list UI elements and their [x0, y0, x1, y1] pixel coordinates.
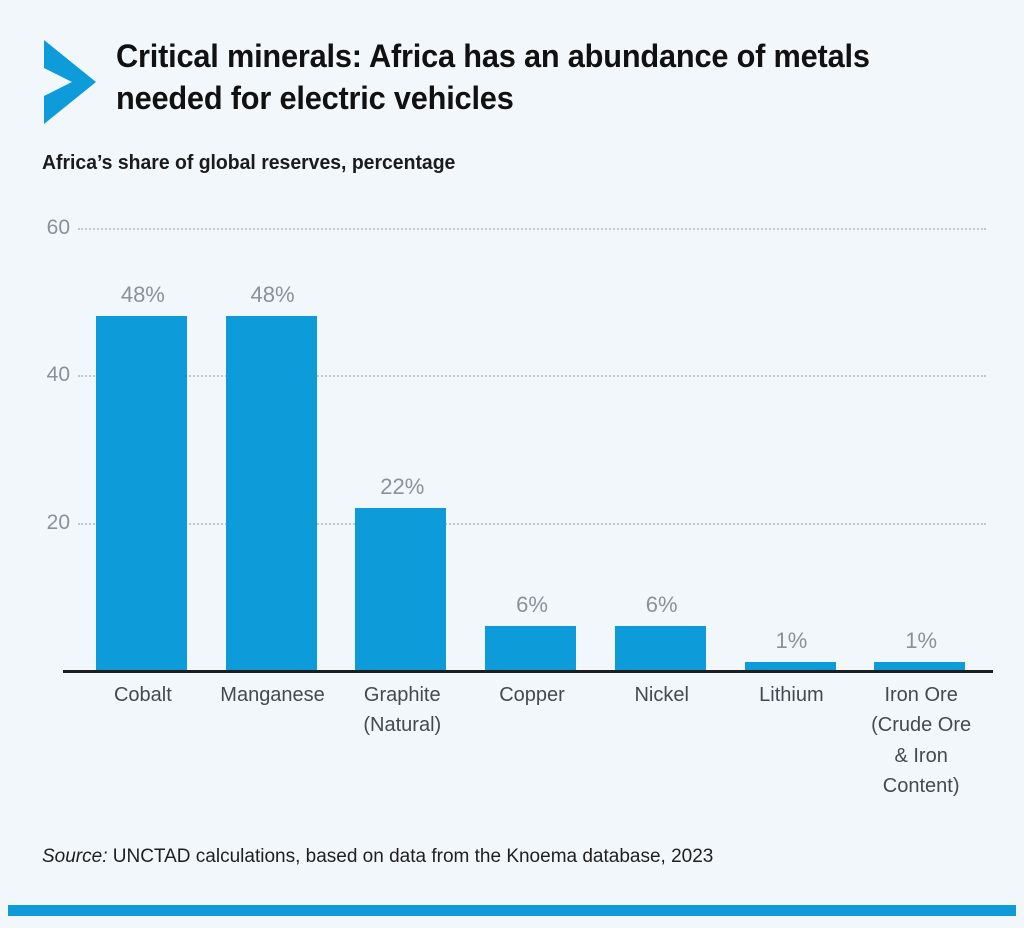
x-axis-category-label: Copper [461, 680, 603, 710]
bar-value-label: 22% [337, 474, 467, 500]
chevron-right-icon [42, 38, 98, 126]
bar-chart: 204060 48%Cobalt48%Manganese22%Graphite(… [0, 200, 1024, 840]
bar[interactable] [96, 316, 187, 670]
x-axis-category-label: Manganese [202, 680, 344, 710]
bar-value-label: 6% [467, 592, 597, 618]
x-axis-category-label: Graphite(Natural) [331, 680, 473, 741]
chart-subtitle: Africa’s share of global reserves, perce… [42, 152, 455, 175]
bar[interactable] [485, 626, 576, 670]
bar-value-label: 6% [597, 592, 727, 618]
bar[interactable] [355, 508, 446, 670]
page-title: Critical minerals: Africa has an abundan… [116, 36, 913, 119]
x-axis-category-label: Iron Ore(Crude Ore& IronContent) [850, 680, 992, 802]
bar-group[interactable]: 6%Nickel [597, 228, 727, 670]
bar-group[interactable]: 1%Iron Ore(Crude Ore& IronContent) [856, 228, 986, 670]
bar-group[interactable]: 48%Manganese [208, 228, 338, 670]
bars-container: 48%Cobalt48%Manganese22%Graphite(Natural… [78, 228, 986, 670]
bar[interactable] [745, 662, 836, 670]
bar[interactable] [615, 626, 706, 670]
bottom-accent-rule [8, 905, 1016, 916]
bar-value-label: 48% [208, 282, 338, 308]
bar-group[interactable]: 6%Copper [467, 228, 597, 670]
x-axis-line [63, 670, 993, 673]
bar-group[interactable]: 48%Cobalt [78, 228, 208, 670]
y-axis-tick-label: 40 [10, 363, 70, 387]
source-label: Source: [42, 846, 107, 867]
bar[interactable] [874, 662, 965, 670]
bar[interactable] [226, 316, 317, 670]
x-axis-category-label: Lithium [721, 680, 863, 710]
bar-value-label: 1% [727, 628, 857, 654]
source-text: UNCTAD calculations, based on data from … [107, 846, 713, 867]
bar-value-label: 48% [78, 282, 208, 308]
x-axis-category-label: Cobalt [72, 680, 214, 710]
y-axis-tick-label: 20 [10, 511, 70, 535]
source-note: Source: UNCTAD calculations, based on da… [42, 846, 713, 868]
x-axis-category-label: Nickel [591, 680, 733, 710]
title-row: Critical minerals: Africa has an abundan… [42, 36, 992, 126]
bar-group[interactable]: 1%Lithium [727, 228, 857, 670]
plot-area: 48%Cobalt48%Manganese22%Graphite(Natural… [78, 228, 986, 670]
y-axis-tick-label: 60 [10, 216, 70, 240]
bar-value-label: 1% [856, 628, 986, 654]
bar-group[interactable]: 22%Graphite(Natural) [337, 228, 467, 670]
